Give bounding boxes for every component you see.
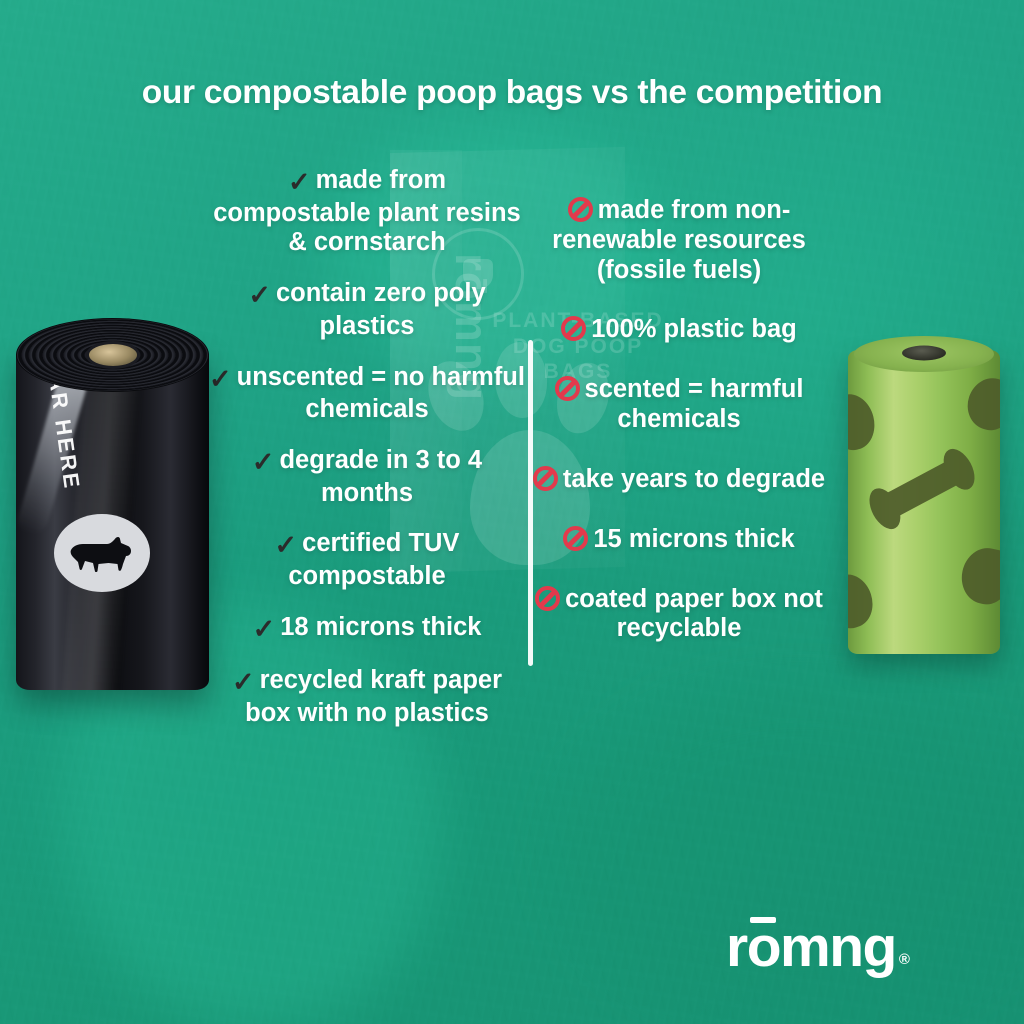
logo-o-with-macron: o xyxy=(747,919,780,976)
list-item-label: take years to degrade xyxy=(563,465,825,493)
list-item-label: degrade in 3 to 4 months xyxy=(279,446,482,507)
list-item-label: scented = harmful chemicals xyxy=(585,375,804,433)
list-item-label: 18 microns thick xyxy=(280,613,481,641)
green-roll-core xyxy=(902,346,946,361)
check-icon: ✓ xyxy=(232,667,255,699)
ours-column: ✓made from compostable plant resins & co… xyxy=(208,166,526,750)
bone-pattern-icon xyxy=(848,390,880,455)
list-item: made from non-renewable resources (fossi… xyxy=(520,196,838,285)
list-item-label: made from compostable plant resins & cor… xyxy=(213,166,521,256)
registered-trademark-icon: ® xyxy=(899,951,910,968)
prohibited-icon xyxy=(561,316,586,341)
list-item: ✓certified TUV compostable xyxy=(208,529,526,591)
bone-pattern-icon xyxy=(957,544,1000,609)
bone-pattern-icon xyxy=(848,569,879,634)
dog-badge xyxy=(54,514,150,592)
check-icon: ✓ xyxy=(275,530,298,562)
bone-pattern-icon xyxy=(961,372,1000,436)
list-item: ✓degrade in 3 to 4 months xyxy=(208,446,526,508)
brand-logo[interactable]: romng® xyxy=(726,919,910,976)
check-icon: ✓ xyxy=(248,280,271,312)
list-item: ✓unscented = no harmful chemicals xyxy=(208,363,526,425)
competition-column: made from non-renewable resources (fossi… xyxy=(520,196,838,674)
list-item-label: certified TUV compostable xyxy=(288,529,459,590)
page-title: our compostable poop bags vs the competi… xyxy=(0,74,1024,112)
dog-silhouette-icon xyxy=(68,533,136,573)
prohibited-icon xyxy=(555,376,580,401)
prohibited-icon xyxy=(568,197,593,222)
list-item: 100% plastic bag xyxy=(520,315,838,345)
logo-text-part3: mng xyxy=(780,915,896,979)
list-item-label: contain zero poly plastics xyxy=(276,279,486,340)
logo-text-part1: r xyxy=(726,915,747,979)
list-item: coated paper box not recyclable xyxy=(520,585,838,645)
black-roll-top-coil xyxy=(16,318,209,392)
list-item-label: unscented = no harmful chemicals xyxy=(237,363,525,424)
macron-bar-icon xyxy=(750,917,776,923)
black-roll-body: TEAR HERE xyxy=(16,346,209,690)
green-plastic-bag-roll xyxy=(848,336,1000,654)
check-icon: ✓ xyxy=(288,167,311,199)
list-item: ✓contain zero poly plastics xyxy=(208,279,526,341)
list-item: ✓18 microns thick xyxy=(208,613,526,646)
list-item-label: recycled kraft paper box with no plastic… xyxy=(245,666,502,727)
list-item-label: 15 microns thick xyxy=(593,525,794,553)
list-item: ✓recycled kraft paper box with no plasti… xyxy=(208,666,526,728)
black-roll-core xyxy=(89,344,137,366)
list-item: take years to degrade xyxy=(520,465,838,495)
check-icon: ✓ xyxy=(209,364,232,396)
logo-text-part2: o xyxy=(747,915,780,979)
bone-pattern-icon xyxy=(875,456,968,522)
infographic-canvas: rōmng PLANT-BASED DOG POOP BAGS our comp… xyxy=(0,0,1024,1024)
prohibited-icon xyxy=(533,466,558,491)
list-item-label: 100% plastic bag xyxy=(591,315,797,343)
list-item: ✓made from compostable plant resins & co… xyxy=(208,166,526,258)
black-compostable-bag-roll: TEAR HERE xyxy=(16,318,209,690)
list-item: scented = harmful chemicals xyxy=(520,375,838,435)
prohibited-icon xyxy=(535,586,560,611)
check-icon: ✓ xyxy=(252,447,275,479)
prohibited-icon xyxy=(563,526,588,551)
green-roll-top-coil xyxy=(854,336,994,372)
check-icon: ✓ xyxy=(253,614,276,646)
list-item-label: coated paper box not recyclable xyxy=(565,585,823,643)
green-roll-body xyxy=(848,350,1000,654)
list-item: 15 microns thick xyxy=(520,525,838,555)
